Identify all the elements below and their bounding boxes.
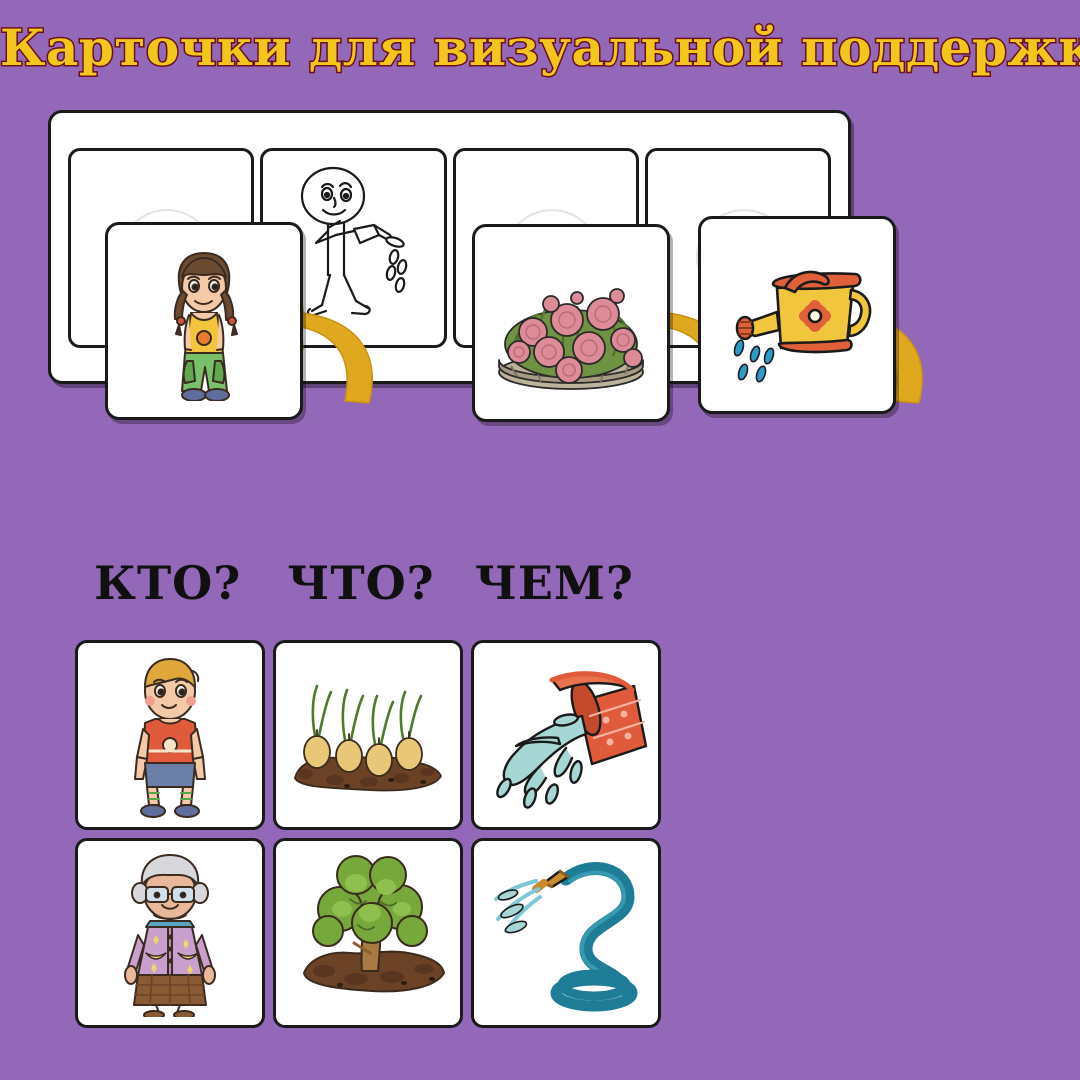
tree-icon bbox=[276, 841, 460, 1025]
flowerbed-icon bbox=[475, 227, 667, 419]
grandmother-icon bbox=[78, 841, 262, 1025]
question-label-row: КТО? ЧТО? ЧЕМ? bbox=[75, 552, 655, 614]
answer-card-grid bbox=[75, 640, 655, 1028]
hose-icon bbox=[474, 841, 658, 1025]
bucket-icon bbox=[474, 643, 658, 827]
answer-card-bucket[interactable] bbox=[471, 640, 661, 830]
answer-card-onions[interactable] bbox=[273, 640, 463, 830]
page-title: Карточки для визуальной поддержки bbox=[0, 18, 1080, 77]
answer-card-hose[interactable] bbox=[471, 838, 661, 1028]
boy-icon bbox=[78, 643, 262, 827]
girl-icon bbox=[108, 225, 300, 417]
answer-card-grandmother[interactable] bbox=[75, 838, 265, 1028]
answer-card-tree[interactable] bbox=[273, 838, 463, 1028]
question-who: КТО? bbox=[75, 552, 260, 614]
question-with-what: ЧЕМ? bbox=[462, 552, 647, 614]
watering-can-icon bbox=[701, 219, 893, 411]
overlay-card-watering-can[interactable] bbox=[698, 216, 896, 414]
answer-card-boy[interactable] bbox=[75, 640, 265, 830]
onions-icon bbox=[276, 643, 460, 827]
overlay-card-flowerbed[interactable] bbox=[472, 224, 670, 422]
question-what: ЧТО? bbox=[268, 552, 453, 614]
overlay-card-girl[interactable] bbox=[105, 222, 303, 420]
